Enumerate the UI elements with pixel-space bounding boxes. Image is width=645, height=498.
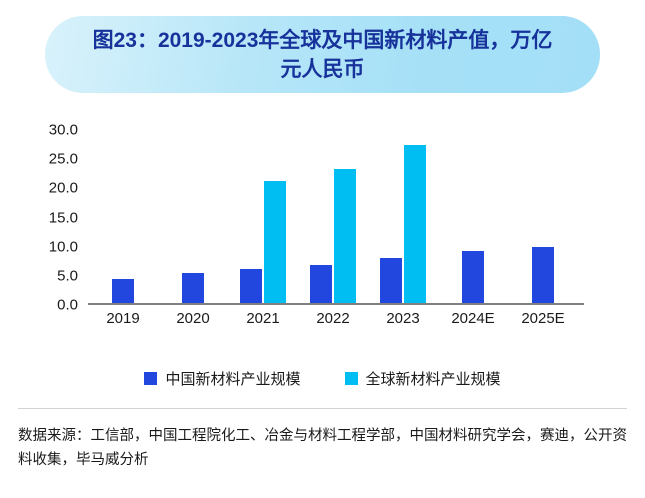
x-axis-tick-labels: 201920202021202220232024E2025E [88,310,584,336]
bar-group [368,130,438,305]
legend-swatch-icon [345,372,358,385]
bar-group [158,130,228,305]
bar-group [298,130,368,305]
bar-china[interactable] [532,247,554,305]
bar-group [508,130,578,305]
bar-global[interactable] [334,169,356,305]
page-title: 图23：2019-2023年全球及中国新材料产值，万亿元人民币 [88,26,558,84]
y-axis-tick-label: 10.0 [20,238,78,255]
legend-label: 中国新材料产业规模 [165,368,300,389]
x-axis-tick-label: 2024E [438,310,508,327]
footer-divider [18,408,627,409]
x-axis-tick-label: 2022 [298,310,368,327]
legend-item-global[interactable]: 全球新材料产业规模 [345,368,501,389]
bar-global[interactable] [264,181,286,305]
bar-global[interactable] [404,145,426,305]
chart-title-banner: 图23：2019-2023年全球及中国新材料产值，万亿元人民币 [45,16,600,93]
bar-group [88,130,158,305]
bar-china[interactable] [240,269,262,305]
bar-group [438,130,508,305]
source-note: 数据来源：工信部，中国工程院化工、冶金与材料工程学部，中国材料研究学会，赛迪，公… [18,424,630,472]
x-axis-tick-label: 2021 [228,310,298,327]
y-axis: 0.05.010.015.020.025.030.0 [20,130,78,302]
y-axis-tick-label: 20.0 [20,180,78,197]
bar-china[interactable] [182,273,204,305]
chart-plot-area: 0.05.010.015.020.025.030.0 2019202020212… [0,110,645,355]
y-axis-tick-label: 5.0 [20,267,78,284]
x-axis-tick-label: 2025E [508,310,578,327]
legend-label: 全球新材料产业规模 [366,368,501,389]
y-axis-tick-label: 15.0 [20,209,78,226]
x-axis-line [88,303,584,305]
bar-china[interactable] [310,265,332,305]
bar-group [228,130,298,305]
x-axis-tick-label: 2019 [88,310,158,327]
bar-series-container [88,130,584,305]
x-axis-tick-label: 2023 [368,310,438,327]
y-axis-tick-label: 0.0 [20,297,78,314]
chart-legend: 中国新材料产业规模全球新材料产业规模 [0,368,645,389]
legend-swatch-icon [144,372,157,385]
bar-china[interactable] [380,258,402,305]
y-axis-tick-label: 25.0 [20,151,78,168]
bar-china[interactable] [462,251,484,305]
y-axis-tick-label: 30.0 [20,122,78,139]
x-axis-tick-label: 2020 [158,310,228,327]
bar-china[interactable] [112,279,134,305]
legend-item-china[interactable]: 中国新材料产业规模 [144,368,300,389]
